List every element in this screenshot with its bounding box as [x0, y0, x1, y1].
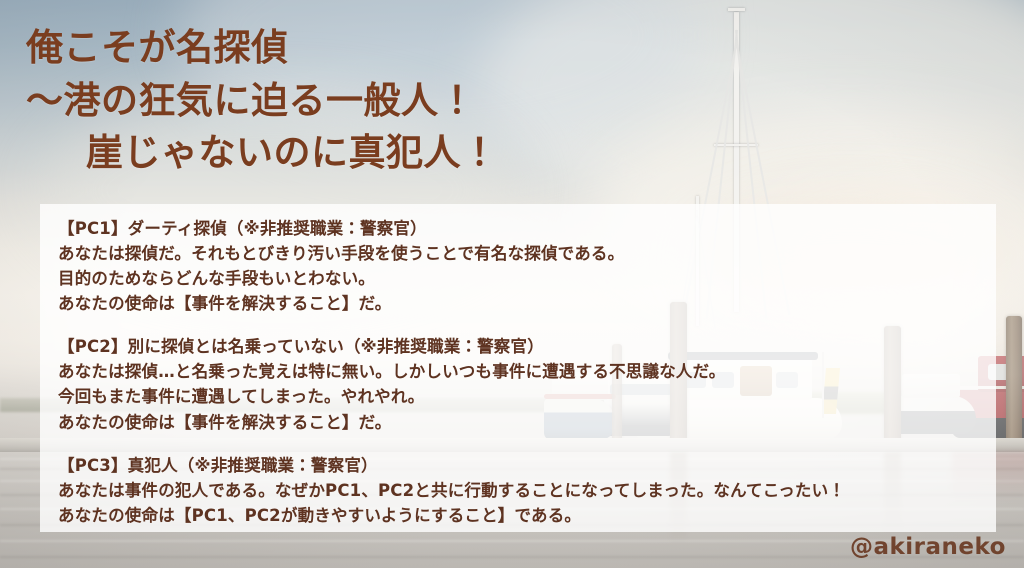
title-line-2: 〜港の狂気に迫る一般人！ — [26, 75, 586, 128]
pc-block-pc2: 【PC2】別に探偵とは名乗っていない（※非推奨職業：警察官） あなたは探偵…と名… — [58, 334, 996, 434]
pc1-body-2: 目的のためならどんな手段もいとわない。 — [58, 266, 996, 291]
pc-block-pc1: 【PC1】ダーティ探偵（※非推奨職業：警察官） あなたは探偵だ。それもとびきり汚… — [58, 216, 996, 316]
pc1-heading: 【PC1】ダーティ探偵（※非推奨職業：警察官） — [58, 216, 996, 241]
title-line-1: 俺こそが名探偵 — [26, 22, 586, 75]
pc1-mission: あなたの使命は【事件を解決すること】だ。 — [58, 291, 996, 316]
pc1-body-1: あなたは探偵だ。それもとびきり汚い手段を使うことで有名な探偵である。 — [58, 241, 996, 266]
author-watermark: @akiraneko — [850, 534, 1006, 560]
pc3-heading: 【PC3】真犯人（※非推奨職業：警察官） — [58, 453, 996, 478]
pc2-body-1: あなたは探偵…と名乗った覚えは特に無い。しかしいつも事件に遭遇する不思議な人だ。 — [58, 359, 996, 384]
pc3-body-1: あなたは事件の犯人である。なぜかPC1、PC2と共に行動することになってしまった… — [58, 478, 996, 503]
title-line-3: 崖じゃないのに真犯人！ — [26, 127, 586, 180]
mast-spreader — [714, 144, 758, 146]
page-title: 俺こそが名探偵 〜港の狂気に迫る一般人！ 崖じゃないのに真犯人！ — [26, 22, 586, 180]
pc2-mission: あなたの使命は【事件を解決すること】だ。 — [58, 410, 996, 435]
pc3-mission: あなたの使命は【PC1、PC2が動きやすいようにすること】である。 — [58, 503, 996, 528]
pc2-body-2: 今回もまた事件に遭遇してしまった。やれやれ。 — [58, 384, 996, 409]
pc2-heading: 【PC2】別に探偵とは名乗っていない（※非推奨職業：警察官） — [58, 334, 996, 359]
masthead-instrument — [728, 8, 745, 11]
character-description-panel: 【PC1】ダーティ探偵（※非推奨職業：警察官） あなたは探偵だ。それもとびきり汚… — [40, 204, 996, 532]
scenario-card: 俺こそが名探偵 〜港の狂気に迫る一般人！ 崖じゃないのに真犯人！ 【PC1】ダー… — [0, 0, 1024, 568]
pc-block-pc3: 【PC3】真犯人（※非推奨職業：警察官） あなたは事件の犯人である。なぜかPC1… — [58, 453, 996, 528]
